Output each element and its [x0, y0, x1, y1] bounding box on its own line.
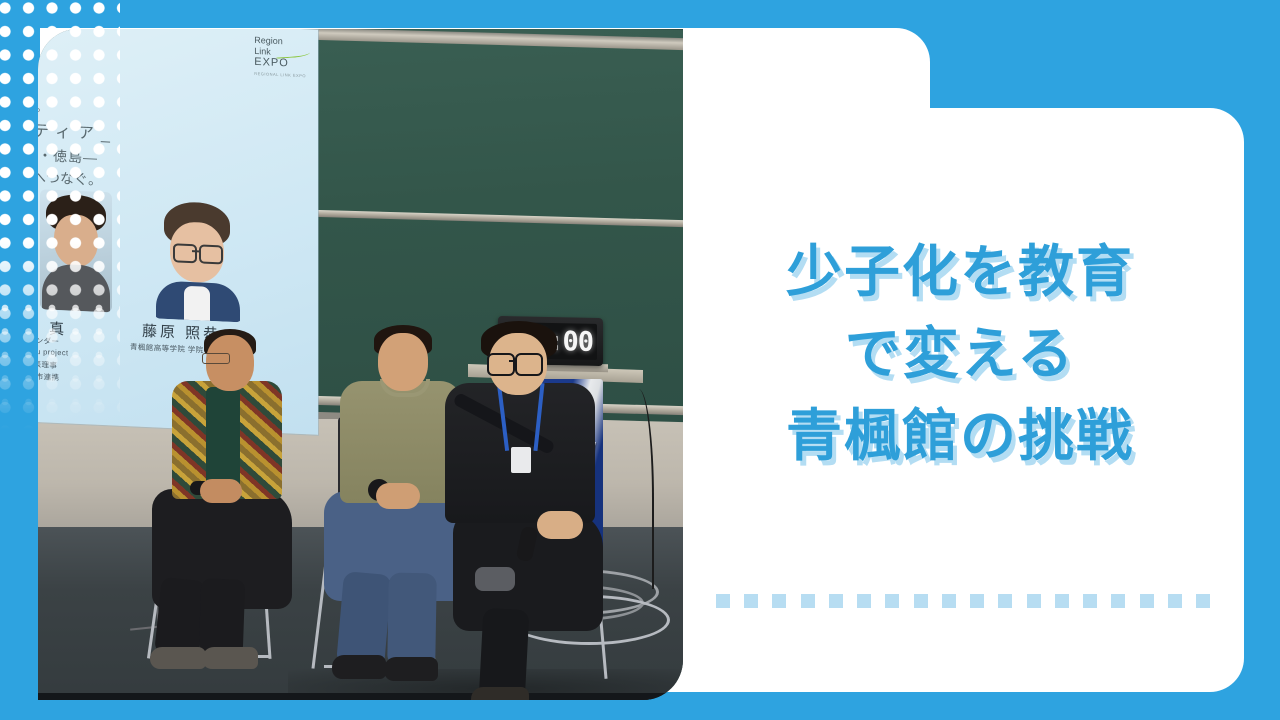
dash-square [1083, 594, 1097, 608]
speaker-shoe [202, 647, 258, 669]
portrait-shirt [184, 286, 210, 321]
dash-square [914, 594, 928, 608]
dash-square [885, 594, 899, 608]
speaker-hands [376, 483, 420, 509]
speaker-hands [200, 479, 242, 503]
speaker-head [378, 333, 428, 391]
glasses-icon [173, 243, 197, 263]
dash-square [801, 594, 815, 608]
logo-tagline: REGIONAL LINK EXPO [254, 68, 306, 81]
slide-text-line-3: ンダ・徳島— [38, 144, 98, 168]
dash-square [829, 594, 843, 608]
event-photo: Region Link EXPO REGIONAL LINK EXPO 。 ンテ… [38, 29, 683, 700]
name-badge [511, 447, 531, 473]
slide-speaker-left-title-2: kukumu project [38, 346, 68, 358]
slide-title: 少子化を教育 で変える 青楓館の挑戦 [700, 232, 1220, 478]
portrait-face [54, 214, 98, 268]
speaker-shin [199, 578, 246, 655]
speaker-shoe [471, 687, 529, 700]
dash-square [1140, 594, 1154, 608]
photo-inner: Region Link EXPO REGIONAL LINK EXPO 。 ンテ… [38, 29, 683, 700]
slide-speaker-left-title-4: 吉野川市連携 [38, 370, 59, 383]
glasses-icon [487, 353, 515, 376]
slide-portrait-right [154, 200, 242, 322]
slide-text-line-4: 世界へつなぐ。 [38, 166, 102, 190]
slide-portrait-left [40, 189, 112, 312]
dash-square [1168, 594, 1182, 608]
glasses-bridge-icon [192, 250, 201, 252]
dash-square [1111, 594, 1125, 608]
dash-square [1055, 594, 1069, 608]
speaker-right [453, 321, 683, 700]
slide-speaker-left-title-1: ファウンダー [38, 334, 59, 347]
dash-square [1196, 594, 1210, 608]
dash-square [772, 594, 786, 608]
title-line-2: で変える [700, 314, 1220, 396]
slide-speaker-left-title-3: mu 代表理事 [38, 358, 57, 371]
speaker-shoe [332, 655, 386, 679]
dashed-divider [716, 594, 1210, 608]
glasses-icon [202, 353, 230, 364]
glasses-icon [199, 244, 223, 264]
dash-square [744, 594, 758, 608]
slide-text-line-2: ンティア_ [38, 116, 117, 145]
title-line-3: 青楓館の挑戦 [700, 396, 1220, 478]
portrait-body [42, 263, 110, 312]
slide-canvas: Region Link EXPO REGIONAL LINK EXPO 。 ンテ… [0, 0, 1280, 720]
slide-text-line-1: 。 [38, 99, 49, 116]
dash-square [1027, 594, 1041, 608]
dash-square [970, 594, 984, 608]
dash-square [998, 594, 1012, 608]
glasses-bridge-icon [509, 360, 517, 362]
speaker-left [148, 329, 328, 689]
speaker-hands [537, 511, 583, 539]
title-line-1: 少子化を教育 [700, 232, 1220, 314]
dash-square [716, 594, 730, 608]
dash-square [942, 594, 956, 608]
speaker-shoe [150, 647, 206, 669]
waist-pouch [475, 567, 515, 591]
glasses-icon [515, 353, 543, 376]
speaker-shin [387, 573, 437, 668]
dash-square [857, 594, 871, 608]
speaker-shoe [384, 657, 438, 681]
